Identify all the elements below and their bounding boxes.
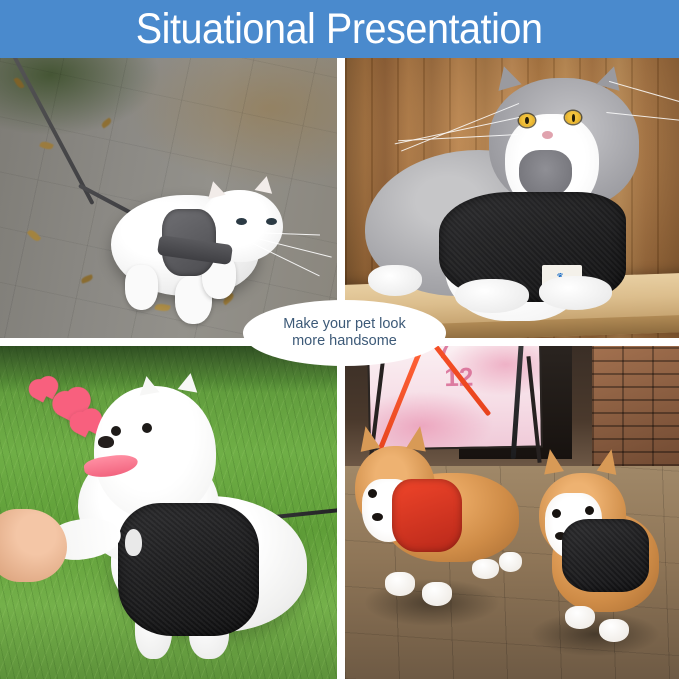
dog-harness [118,503,260,636]
cat-pupil-left [525,117,529,125]
cat-pupil-right [572,114,576,122]
gallery-image-top-right[interactable]: 🐾 [345,58,679,338]
gallery-image-bottom-left[interactable] [0,346,337,679]
corgi-harness-black [562,519,649,592]
corgi-paw-right-a [565,606,595,629]
cat-nose [542,131,553,139]
photo-two-corgis: 7 12 [345,346,679,679]
cat-eye-right [266,218,277,225]
cat-eye-left [519,114,535,127]
dog-ear-left [137,374,160,395]
corgi-nose-left [372,513,383,521]
badge-text: Make your pet look more handsome [283,316,406,351]
photo-cat-on-shelf: 🐾 [345,58,679,338]
corgi-harness-red [392,479,462,552]
corgi-ear-right-a [540,448,564,475]
dog-ear-right [177,371,200,392]
dog-eye-right [142,423,152,433]
situational-presentation-page: Situational Presentation [0,0,679,679]
status-badge: Make your pet look more handsome [243,300,446,366]
corgi-paw-left-b [422,582,452,605]
header-banner: Situational Presentation [0,0,679,58]
dog-head [94,386,215,519]
cat-paw-front [455,279,528,313]
cat-paw-right [539,276,612,310]
corgi-paw-right-b [599,619,629,642]
corgi-paw-left-a [385,572,415,595]
dog-nose [98,436,114,448]
corgi-paw-left-c [472,559,499,579]
page-title: Situational Presentation [136,7,543,51]
cat-eye-left [236,218,247,225]
harness-badge [125,529,142,556]
cat-paw-left [368,265,421,296]
photo-pomeranian-on-grass [0,346,337,679]
corgi-shadow-right [532,612,659,655]
image-grid: 🐾 [0,58,679,679]
cat-ear-right [255,174,276,193]
gallery-image-bottom-right[interactable]: 7 12 [345,346,679,679]
cat-muzzle [519,150,572,198]
photo-cat-on-leash [0,58,337,338]
gallery-image-top-left[interactable] [0,58,337,338]
cat-foreleg [125,265,159,310]
